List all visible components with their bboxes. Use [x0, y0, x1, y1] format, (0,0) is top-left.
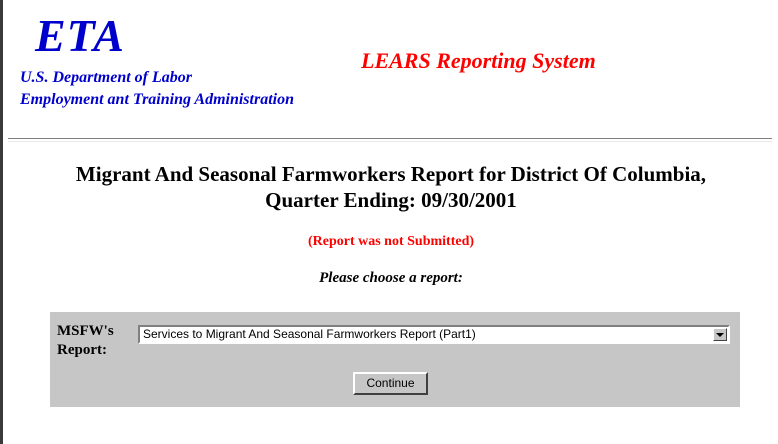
chevron-down-icon[interactable]: [713, 328, 727, 341]
site-header: ETA U.S. Department of Labor Employment …: [4, 0, 778, 136]
page-title-line-1: Migrant And Seasonal Farmworkers Report …: [76, 162, 706, 186]
eta-logo: ETA: [35, 13, 125, 59]
continue-button[interactable]: Continue: [353, 372, 428, 395]
main-content: Migrant And Seasonal Farmworkers Report …: [4, 148, 778, 286]
system-title: LEARS Reporting System: [361, 50, 596, 72]
choose-report-prompt: Please choose a report:: [4, 249, 778, 286]
msfw-report-label-line-1: MSFW's: [57, 323, 114, 339]
msfw-report-select[interactable]: Services to Migrant And Seasonal Farmwor…: [138, 325, 730, 344]
report-selection-panel: MSFW's Report: Services to Migrant And S…: [50, 312, 740, 407]
submission-status-text: (Report was not Submitted): [4, 213, 778, 249]
page-root: ETA U.S. Department of Labor Employment …: [4, 0, 778, 444]
chevron-down-glyph: [716, 333, 724, 337]
page-title: Migrant And Seasonal Farmworkers Report …: [4, 148, 778, 213]
agency-name-line-2: Employment ant Training Administration: [20, 92, 294, 108]
page-title-line-2: Quarter Ending: 09/30/2001: [265, 188, 517, 212]
msfw-report-label: MSFW's Report:: [57, 322, 143, 360]
agency-name-line-1: U.S. Department of Labor: [20, 70, 192, 86]
msfw-report-label-line-2: Report:: [57, 342, 107, 358]
header-divider: [8, 138, 772, 142]
msfw-report-selected-value: Services to Migrant And Seasonal Farmwor…: [143, 328, 708, 341]
